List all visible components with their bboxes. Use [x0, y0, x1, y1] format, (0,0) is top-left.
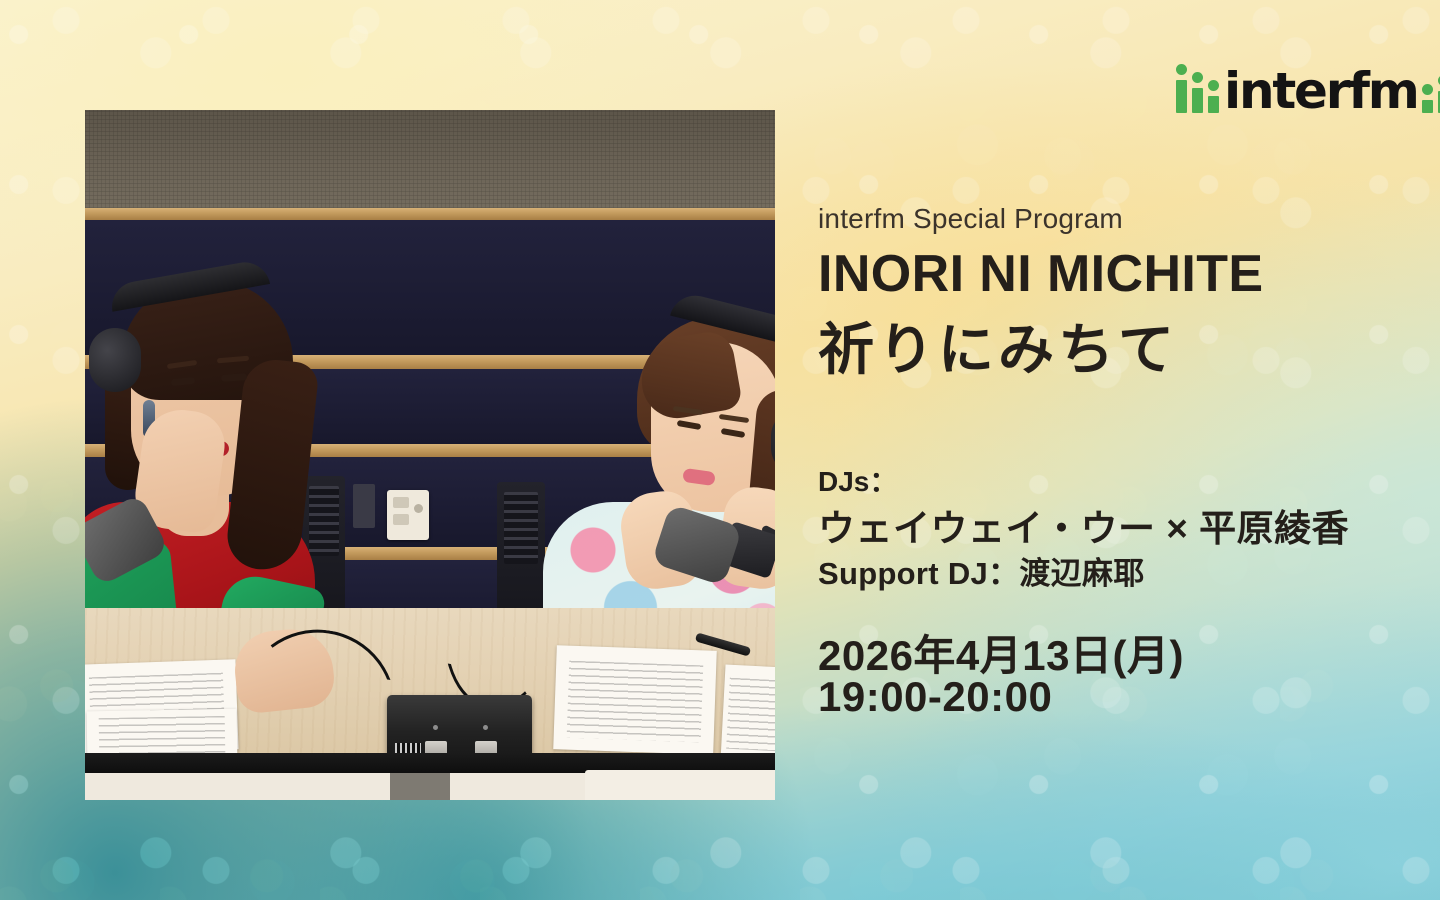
djs-label: DJs：	[818, 460, 897, 500]
program-title-en: INORI NI MICHITE	[818, 244, 1264, 304]
amp-led	[433, 725, 438, 730]
broadcast-time: 19:00-20:00	[818, 673, 1052, 721]
wall-plate-dark	[353, 484, 375, 528]
outlet-socket	[393, 514, 409, 525]
wall-wood-strip	[85, 208, 775, 220]
program-title-ja: 祈りにみちて	[818, 305, 1178, 386]
wall-outlet	[387, 490, 429, 540]
djs-names: ウェイウェイ・ウー × 平原綾香	[818, 498, 1349, 552]
floor-gap	[390, 773, 450, 800]
program-supra-title: interfm Special Program	[818, 203, 1123, 235]
script-paper	[721, 664, 775, 763]
program-info-panel: interfm Special Program INORI NI MICHITE…	[818, 0, 1418, 900]
script-paper	[553, 645, 717, 755]
studio-photo	[85, 110, 775, 800]
amp-led	[483, 725, 488, 730]
eq-bar	[1422, 100, 1433, 113]
poster-canvas: interfm	[0, 0, 1440, 900]
presenter-left-headphone-cup	[89, 328, 141, 392]
outlet-jack	[414, 504, 423, 513]
equalizer-bars-right-icon	[1422, 82, 1440, 113]
outlet-socket	[393, 497, 409, 508]
support-dj: Support DJ：渡辺麻耶	[818, 548, 1145, 593]
studio-wall-upper	[85, 110, 775, 208]
floor-panel	[585, 770, 775, 800]
